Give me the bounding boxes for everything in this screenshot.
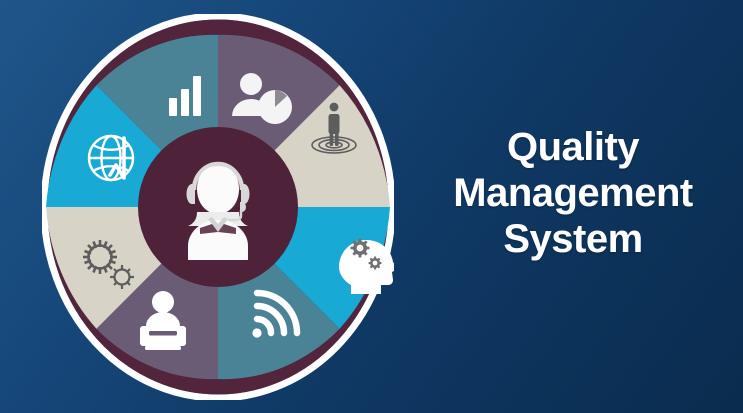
page-title: Quality Management System bbox=[408, 124, 738, 262]
title-line-1: Quality bbox=[408, 124, 738, 170]
poster-canvas: Quality Management System bbox=[0, 0, 743, 413]
wheel-svg bbox=[42, 14, 394, 400]
title-line-2: Management bbox=[408, 170, 738, 216]
quality-wheel-diagram bbox=[42, 14, 394, 400]
title-line-3: System bbox=[408, 216, 738, 262]
